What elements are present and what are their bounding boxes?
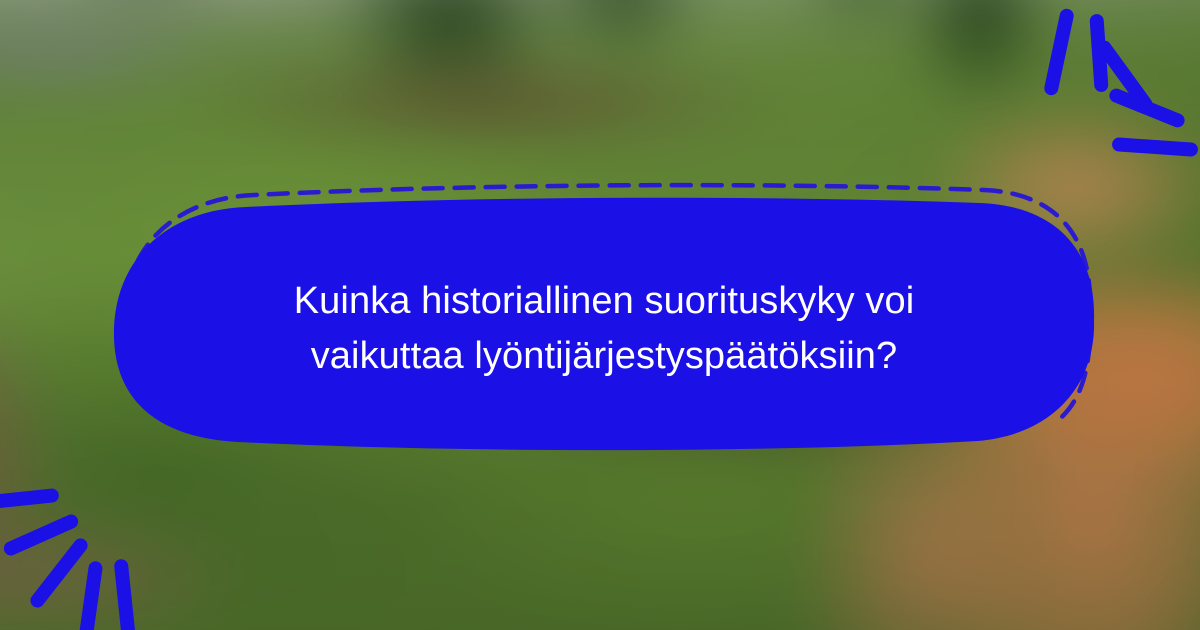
- page-title: Kuinka historiallinen suorituskyky voi v…: [224, 256, 984, 384]
- sparkle-ray: [79, 560, 104, 630]
- question-card: Kuinka historiallinen suorituskyky voi v…: [112, 186, 1096, 454]
- sparkle-ray: [1043, 8, 1075, 97]
- sparkle-ray: [1107, 87, 1186, 130]
- sparkle-ray: [0, 488, 60, 510]
- sparkle-ray: [114, 559, 137, 630]
- sparkle-top-right-icon: [1030, 0, 1200, 150]
- sparkle-bottom-left-icon: [0, 465, 165, 630]
- social-card-canvas: Kuinka historiallinen suorituskyky voi v…: [0, 0, 1200, 630]
- card-text-block: Kuinka historiallinen suorituskyky voi v…: [112, 186, 1096, 454]
- sparkle-ray: [28, 536, 91, 611]
